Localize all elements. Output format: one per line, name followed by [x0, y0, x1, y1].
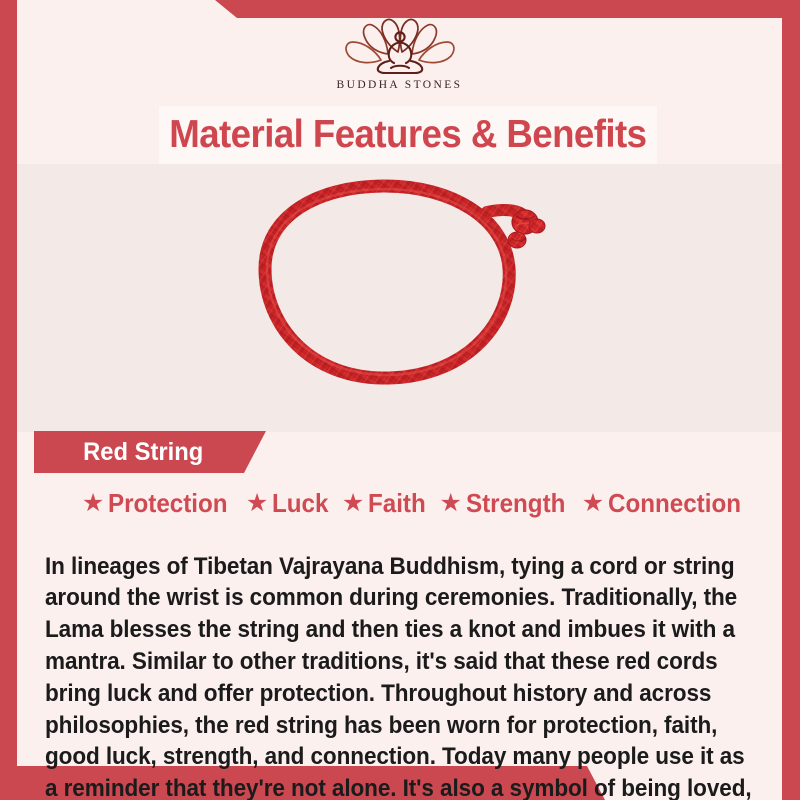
ribbon-label: Red String — [83, 438, 203, 467]
brand-logo: BUDDHA STONES — [17, 18, 782, 103]
star-icon: ★ — [342, 491, 364, 516]
feature-label: Connection — [608, 488, 741, 519]
brand-name: BUDDHA STONES — [337, 79, 463, 91]
feature-list: ★ Protection ★ Luck ★ Faith ★ Strength ★… — [34, 480, 799, 526]
frame-bar-right — [782, 0, 800, 800]
product-image — [17, 164, 782, 432]
card-body: BUDDHA STONES Material Features & Benefi… — [17, 18, 782, 766]
lotus-meditation-icon — [341, 16, 459, 78]
star-icon: ★ — [582, 491, 604, 516]
title-band: Material Features & Benefits — [159, 106, 657, 164]
page-title: Material Features & Benefits — [169, 113, 646, 157]
feature-label: Faith — [368, 488, 426, 519]
frame-bar-left — [0, 0, 17, 800]
feature-item-strength: ★ Strength — [439, 488, 572, 519]
feature-item-luck: ★ Luck — [246, 488, 333, 519]
feature-item-faith: ★ Faith — [342, 488, 431, 519]
star-icon: ★ — [82, 491, 104, 516]
section-ribbon: Red String — [34, 431, 266, 473]
feature-label: Luck — [272, 488, 328, 519]
feature-label: Strength — [466, 488, 565, 519]
description-paragraph: In lineages of Tibetan Vajrayana Buddhis… — [45, 552, 763, 800]
feature-label: Protection — [108, 488, 228, 519]
star-icon: ★ — [246, 491, 268, 516]
feature-item-protection: ★ Protection — [82, 488, 237, 519]
star-icon: ★ — [439, 491, 461, 516]
infographic-card: BUDDHA STONES Material Features & Benefi… — [0, 0, 800, 800]
feature-item-connection: ★ Connection — [582, 488, 751, 519]
